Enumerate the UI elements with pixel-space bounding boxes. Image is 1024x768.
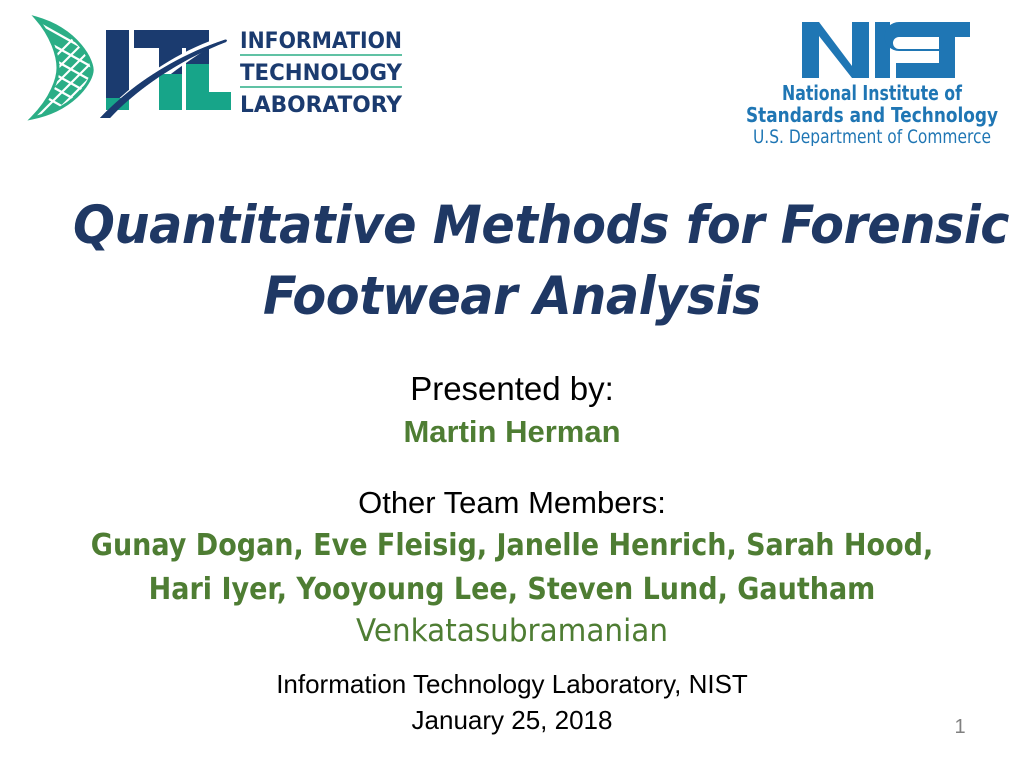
itl-line-1: INFORMATION (240, 29, 402, 54)
slide-title-line-1: Quantitative Methods for Forensic (73, 190, 951, 261)
team-members-label: Other Team Members: (20, 482, 1004, 524)
itl-acronym-mark (100, 30, 232, 118)
team-members-names-line-3: Venkatasubramanian (45, 612, 980, 650)
slide-title: Quantitative Methods for Forensic Footwe… (40, 190, 984, 332)
itl-wordmark: INFORMATION TECHNOLOGY LABORATORY (240, 29, 403, 118)
team-members-names-line-2: Hari Iyer, Yooyoung Lee, Steven Lund, Ga… (69, 568, 955, 612)
itl-globe-icon (18, 14, 108, 122)
nist-line-2: Standards and Technology (746, 103, 998, 127)
nist-line-3: U.S. Department of Commerce (753, 126, 991, 146)
presenter-name: Martin Herman (40, 411, 984, 453)
slide-title-line-2: Footwear Analysis (73, 261, 951, 332)
itl-line-2: TECHNOLOGY (240, 61, 403, 86)
affiliation-block: Information Technology Laboratory, NIST … (40, 666, 984, 738)
itl-logo: INFORMATION TECHNOLOGY LABORATORY (18, 14, 408, 122)
nist-line-1: National Institute of (782, 81, 962, 105)
presented-by-block: Presented by: Martin Herman (40, 367, 984, 453)
presentation-slide: INFORMATION TECHNOLOGY LABORATORY Nation (0, 0, 1024, 768)
presented-by-label: Presented by: (40, 367, 984, 411)
nist-logo: National Institute of Standards and Tech… (728, 16, 1016, 146)
slide-page-number: 1 (930, 716, 990, 739)
team-members-names-line-1: Gunay Dogan, Eve Fleisig, Janelle Henric… (69, 524, 955, 568)
itl-line-3: LABORATORY (240, 93, 403, 118)
nist-wordmark-icon (802, 22, 970, 78)
affiliation-organization: Information Technology Laboratory, NIST (40, 666, 984, 702)
affiliation-date: January 25, 2018 (40, 702, 984, 738)
team-members-block: Other Team Members: Gunay Dogan, Eve Fle… (20, 482, 1004, 650)
